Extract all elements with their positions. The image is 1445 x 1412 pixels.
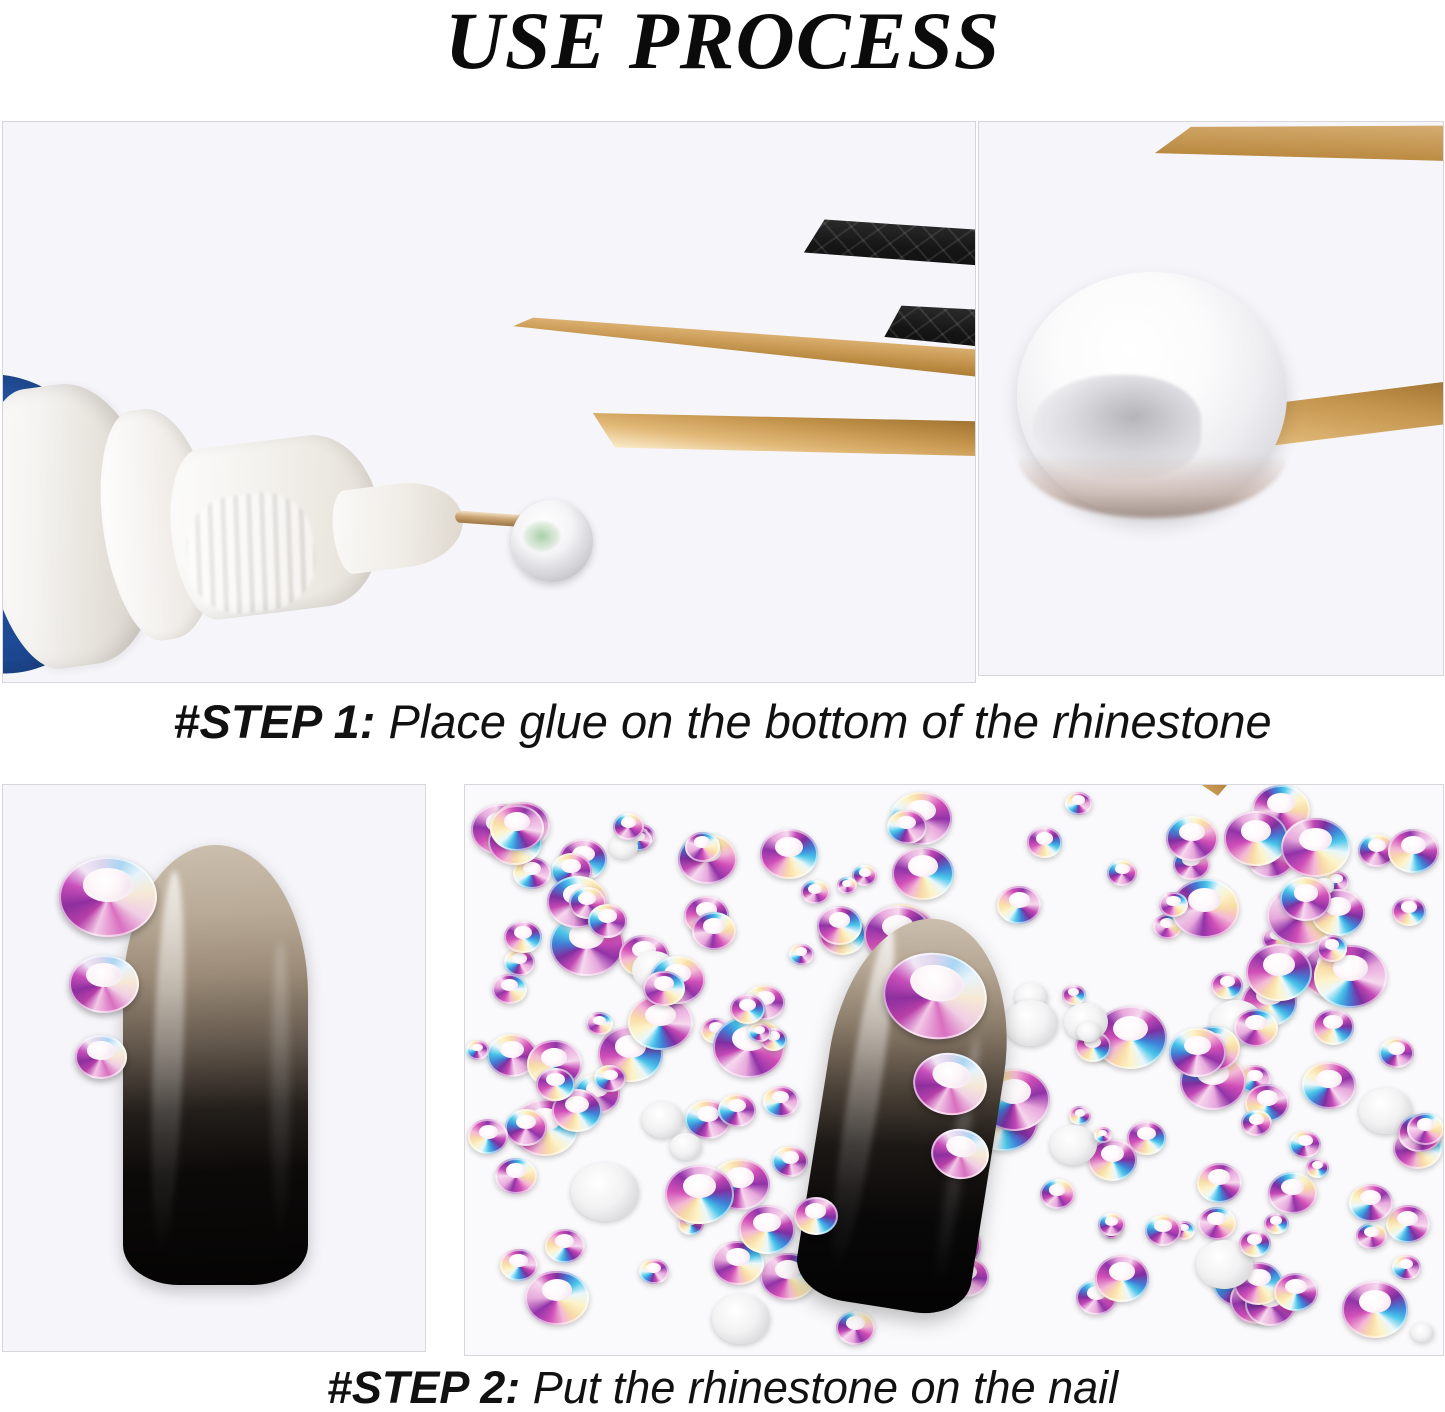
loose-rhinestone-icon <box>1050 1125 1097 1165</box>
loose-rhinestone-icon <box>1342 1281 1408 1338</box>
loose-rhinestone-icon <box>1268 1172 1317 1214</box>
step-2-label: #STEP 2: <box>327 1362 520 1412</box>
step-2-text: Put the rhinestone on the nail <box>520 1362 1118 1412</box>
loose-rhinestone-icon <box>1166 816 1219 861</box>
loose-rhinestone-icon <box>670 1133 701 1160</box>
panel-finished-nail <box>2 784 426 1352</box>
loose-rhinestone-icon <box>739 1205 796 1254</box>
loose-rhinestone-icon <box>642 1102 684 1138</box>
loose-rhinestone-icon <box>1241 1110 1272 1137</box>
page-title: USE PROCESS <box>0 0 1445 88</box>
loose-rhinestone-icon <box>1407 1113 1444 1145</box>
step-1-label: #STEP 1: <box>173 695 375 748</box>
loose-rhinestone-icon <box>594 1065 626 1092</box>
glue-bottle-tip-icon <box>328 476 467 575</box>
nail-rhinestone-medium-icon <box>69 955 139 1013</box>
loose-rhinestone-icon <box>1349 1184 1393 1222</box>
nail-rhinestone-small-icon <box>75 1035 127 1079</box>
loose-rhinestone-icon <box>1169 1028 1226 1077</box>
loose-rhinestone-icon <box>545 1229 585 1263</box>
loose-rhinestone-icon <box>536 1068 575 1102</box>
loose-rhinestone-icon <box>789 944 814 965</box>
use-process-infographic: USE PROCESS #STEP 1: Place glue on the b… <box>0 0 1445 1412</box>
loose-rhinestone-icon <box>718 1094 756 1127</box>
panel-rhinestone-field <box>464 784 1444 1356</box>
loose-rhinestone-icon <box>685 832 720 862</box>
loose-rhinestone-icon <box>837 877 857 894</box>
loose-rhinestone-icon <box>505 1109 547 1146</box>
loose-rhinestone-icon <box>836 1311 876 1345</box>
nail-rhinestone-large-icon <box>59 857 157 937</box>
loose-rhinestone-icon <box>887 810 927 844</box>
loose-rhinestone-icon <box>997 886 1041 924</box>
loose-rhinestone-icon <box>1234 1009 1279 1047</box>
loose-rhinestone-icon <box>492 974 527 1004</box>
loose-rhinestone-icon <box>1280 877 1331 921</box>
panel-glue-applying <box>2 121 976 683</box>
loose-rhinestone-icon <box>1095 1255 1150 1302</box>
loose-rhinestone-icon <box>1306 1158 1329 1178</box>
loose-rhinestone-icon <box>892 847 954 901</box>
loose-rhinestone-icon <box>665 1165 734 1224</box>
loose-rhinestone-icon <box>1281 818 1350 877</box>
loose-rhinestone-icon <box>760 829 818 879</box>
loose-rhinestone-icon <box>1302 1062 1356 1108</box>
loose-rhinestone-icon <box>692 912 737 950</box>
step-2-caption: #STEP 2: Put the rhinestone on the nail <box>0 1362 1445 1412</box>
loose-rhinestone-icon <box>643 971 685 1007</box>
loose-rhinestone-icon <box>500 1249 538 1282</box>
loose-rhinestone-icon <box>1289 1131 1320 1158</box>
loose-rhinestone-icon <box>490 805 544 851</box>
loose-rhinestone-icon <box>468 1119 508 1154</box>
step-1-caption: #STEP 1: Place glue on the bottom of the… <box>0 694 1445 749</box>
loose-rhinestone-icon <box>1040 1179 1075 1209</box>
loose-rhinestone-icon <box>1027 827 1063 858</box>
loose-rhinestone-icon <box>1004 1000 1058 1046</box>
loose-rhinestone-icon <box>525 1271 589 1326</box>
loose-rhinestone-icon <box>588 904 627 938</box>
tweezer-lower-arm-icon <box>590 386 976 482</box>
loose-rhinestone-icon <box>1069 1106 1091 1125</box>
loose-rhinestone-icon <box>1386 1205 1430 1243</box>
loose-rhinestone-icon <box>763 1086 799 1117</box>
rhinestone-glue-bottom-icon <box>1017 272 1287 518</box>
loose-rhinestone-icon <box>1065 792 1092 815</box>
glue-closeup-illustration <box>979 122 1443 675</box>
loose-rhinestone-icon <box>1356 1223 1387 1250</box>
loose-rhinestone-icon <box>1392 1255 1421 1280</box>
loose-rhinestone-icon <box>1388 829 1440 873</box>
loose-rhinestone-icon <box>1107 860 1137 886</box>
loose-rhinestone-icon <box>1224 811 1288 866</box>
panel-glue-closeup <box>978 121 1444 676</box>
loose-rhinestone-icon <box>1062 985 1086 1006</box>
loose-rhinestone-icon <box>586 1012 613 1035</box>
loose-rhinestone-icon <box>1274 1273 1319 1311</box>
rhinestone-with-glue-icon <box>511 500 593 582</box>
loose-rhinestone-icon <box>1313 1009 1354 1045</box>
loose-rhinestone-icon <box>1145 1215 1181 1246</box>
loose-rhinestone-icon <box>748 1023 771 1043</box>
step-1-text: Place glue on the bottom of the rhinesto… <box>375 695 1271 748</box>
tweezer-upper-grip-icon <box>801 200 976 320</box>
loose-rhinestone-icon <box>1411 1323 1434 1343</box>
loose-rhinestone-icon <box>1317 935 1348 962</box>
loose-rhinestone-icon <box>801 880 830 905</box>
loose-rhinestone-icon <box>1264 1213 1289 1234</box>
loose-rhinestone-icon <box>1197 1163 1243 1202</box>
loose-rhinestone-icon <box>1379 1038 1415 1069</box>
loose-rhinestone-icon <box>571 1163 639 1221</box>
loose-rhinestone-icon <box>712 1294 770 1344</box>
loose-rhinestone-icon <box>495 1158 537 1194</box>
loose-rhinestone-icon <box>639 1259 669 1285</box>
glue-applying-illustration <box>3 122 975 682</box>
rhinestone-field-illustration <box>465 785 1443 1355</box>
nail-gloss-highlight <box>146 871 189 1250</box>
loose-rhinestone-icon <box>817 906 862 945</box>
finished-nail-illustration <box>3 785 425 1351</box>
tweezer-tip-upper-icon <box>1154 121 1444 193</box>
nail-gloss-highlight-secondary <box>271 942 290 1241</box>
loose-rhinestone-icon <box>1211 972 1243 1000</box>
field-tweezer-upper-arm-icon <box>909 784 1195 812</box>
loose-rhinestone-icon <box>1198 1207 1236 1240</box>
loose-rhinestone-icon <box>772 1146 808 1177</box>
loose-rhinestone-icon <box>1392 897 1426 926</box>
loose-rhinestone-icon <box>466 1040 489 1060</box>
loose-rhinestone-icon <box>504 921 542 954</box>
loose-rhinestone-icon <box>1239 1230 1271 1257</box>
loose-rhinestone-icon <box>1246 944 1312 1001</box>
